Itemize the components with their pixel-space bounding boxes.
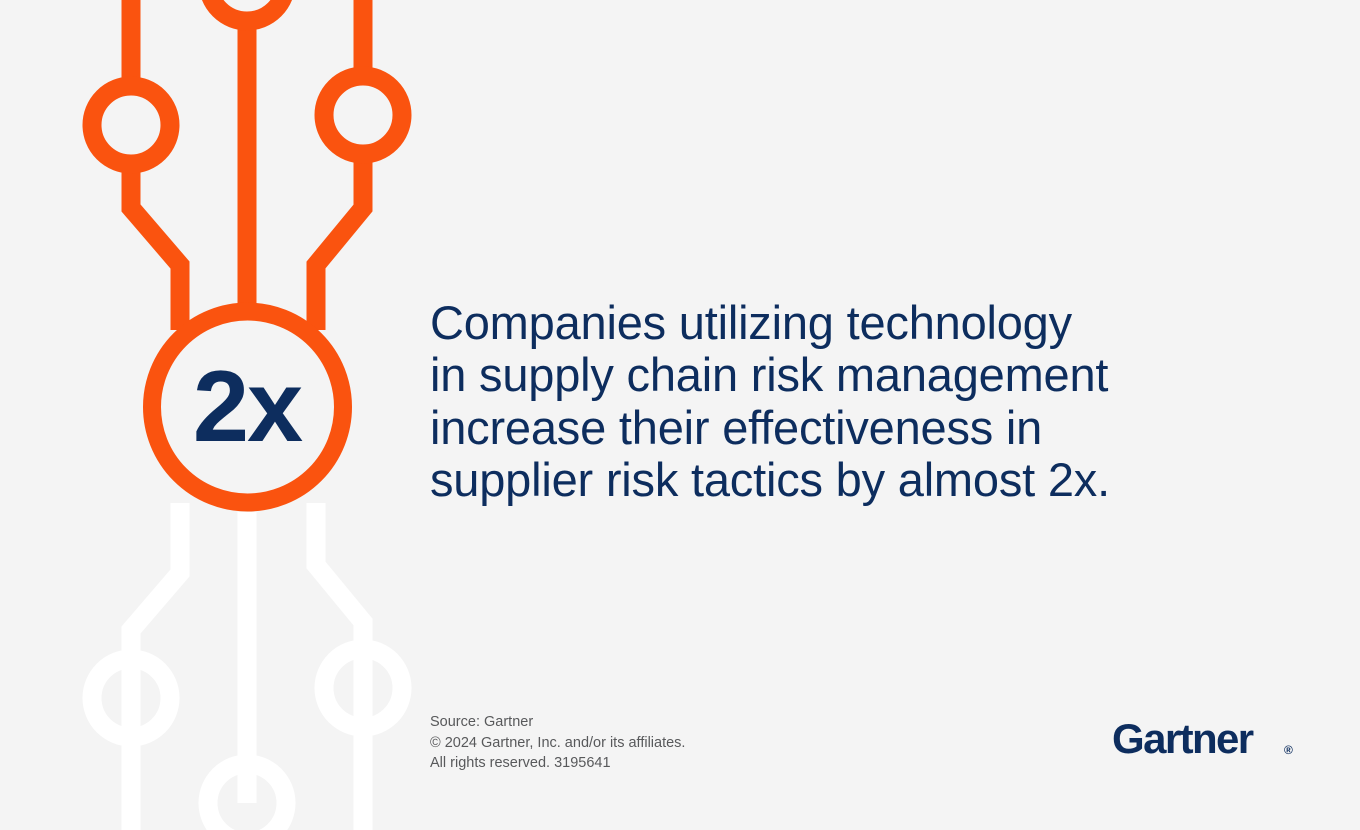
attribution-source: Source: Gartner	[430, 712, 685, 733]
attribution-copyright: © 2024 Gartner, Inc. and/or its affiliat…	[430, 733, 685, 754]
attribution-rights: All rights reserved. 3195641	[430, 753, 685, 774]
gartner-wordmark: Gartner	[1112, 718, 1254, 762]
circuit-upper-right-trace-bottom	[316, 153, 363, 330]
circuit-lower-white-group	[92, 503, 402, 830]
gartner-logo: Gartner ®	[1112, 718, 1302, 764]
headline-statement: Companies utilizing technology in supply…	[430, 297, 1220, 506]
circuit-upper-left-trace-bottom	[131, 163, 180, 330]
circuit-upper-orange-group	[92, 0, 402, 330]
circuit-network-graphic: 2x	[0, 0, 440, 830]
circuit-node-upper-left	[92, 86, 170, 164]
attribution-block: Source: Gartner © 2024 Gartner, Inc. and…	[430, 712, 685, 774]
circuit-node-upper-right	[324, 76, 402, 154]
stat-badge-value: 2x	[193, 351, 303, 463]
circuit-node-upper-center	[208, 0, 286, 21]
gartner-registered-trademark-icon: ®	[1284, 743, 1293, 757]
infographic-canvas: 2x Companies utilizing technology in sup…	[0, 0, 1360, 830]
